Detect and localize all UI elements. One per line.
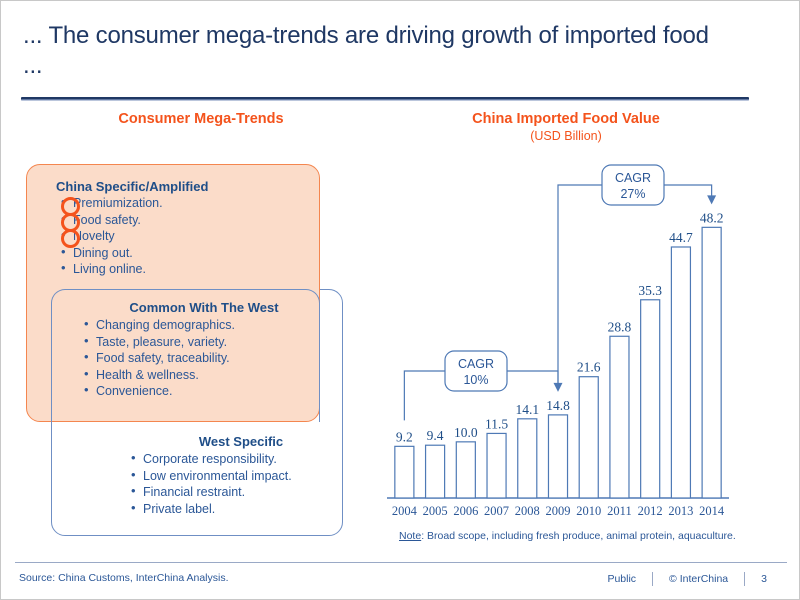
list-item: Taste, pleasure, variety. [79,334,329,351]
svg-text:2010: 2010 [576,504,601,518]
svg-text:2013: 2013 [668,504,693,518]
svg-text:14.1: 14.1 [515,402,539,417]
footer-page-number: 3 [745,573,783,585]
chart-note: Note: Broad scope, including fresh produ… [399,530,736,542]
footer-meta: Public © InterChina 3 [591,572,783,586]
list-item: Premiumization. [56,195,311,212]
svg-text:2011: 2011 [607,504,632,518]
west-specific-heading: West Specific [126,434,356,449]
list-item: Corporate responsibility. [126,451,356,468]
svg-text:48.2: 48.2 [700,210,724,225]
chart-note-text: : Broad scope, including fresh produce, … [421,530,736,542]
china-specific-heading: China Specific/Amplified [56,179,311,194]
svg-text:2007: 2007 [484,504,509,518]
svg-text:9.2: 9.2 [396,429,413,444]
list-item: Private label. [126,501,356,518]
svg-text:2006: 2006 [453,504,478,518]
footer-divider [15,562,787,563]
svg-text:2012: 2012 [638,504,663,518]
svg-text:14.8: 14.8 [546,398,570,413]
page-title: ... The consumer mega-trends are driving… [23,21,723,81]
source-text: Source: China Customs, InterChina Analys… [19,572,229,584]
svg-text:10%: 10% [463,373,488,387]
svg-text:35.3: 35.3 [638,283,662,298]
svg-text:CAGR: CAGR [615,171,651,185]
list-item: Changing demographics. [79,317,329,334]
common-with-west-block: Common With The West Changing demographi… [79,300,329,400]
footer-copyright: © InterChina [653,573,744,585]
svg-text:9.4: 9.4 [427,428,444,443]
west-specific-block: West Specific Corporate responsibility. … [126,434,356,517]
list-item: Food safety. [56,212,311,229]
list-item: Health & wellness. [79,367,329,384]
west-specific-list: Corporate responsibility. Low environmen… [126,451,356,517]
left-section-heading: Consumer Mega-Trends [61,111,341,127]
list-item: Dining out. [56,245,311,262]
list-item: Financial restraint. [126,484,356,501]
svg-text:2009: 2009 [546,504,571,518]
highlight-ring-icon [61,229,80,248]
svg-text:27%: 27% [620,187,645,201]
bar-chart-svg: 9.220049.4200510.0200611.5200714.1200814… [381,151,751,551]
list-item: Living online. [56,261,311,278]
svg-text:2014: 2014 [699,504,725,518]
common-with-west-list: Changing demographics. Taste, pleasure, … [79,317,329,400]
common-with-west-heading: Common With The West [79,300,329,315]
list-item: Novelty [56,228,311,245]
svg-text:2004: 2004 [392,504,418,518]
footer-classification: Public [591,573,652,585]
svg-text:21.6: 21.6 [577,360,601,375]
list-item: Low environmental impact. [126,468,356,485]
svg-text:CAGR: CAGR [458,357,494,371]
right-section-heading: China Imported Food Value [401,111,731,127]
right-section-subheading: (USD Billion) [401,129,731,143]
china-specific-list: Premiumization. Food safety. Novelty Din… [56,195,311,278]
list-item: Food safety, traceability. [79,350,329,367]
svg-text:28.8: 28.8 [608,319,632,334]
bar-chart: 9.220049.4200510.0200611.5200714.1200814… [381,151,751,551]
svg-text:10.0: 10.0 [454,425,478,440]
list-item: Convenience. [79,383,329,400]
svg-text:44.7: 44.7 [669,230,693,245]
china-specific-block: China Specific/Amplified Premiumization.… [56,179,311,278]
chart-note-label: Note [399,530,421,542]
title-divider [21,97,749,101]
svg-text:2008: 2008 [515,504,540,518]
svg-text:11.5: 11.5 [485,416,508,431]
slide-canvas: ... The consumer mega-trends are driving… [0,0,800,600]
svg-text:2005: 2005 [423,504,448,518]
